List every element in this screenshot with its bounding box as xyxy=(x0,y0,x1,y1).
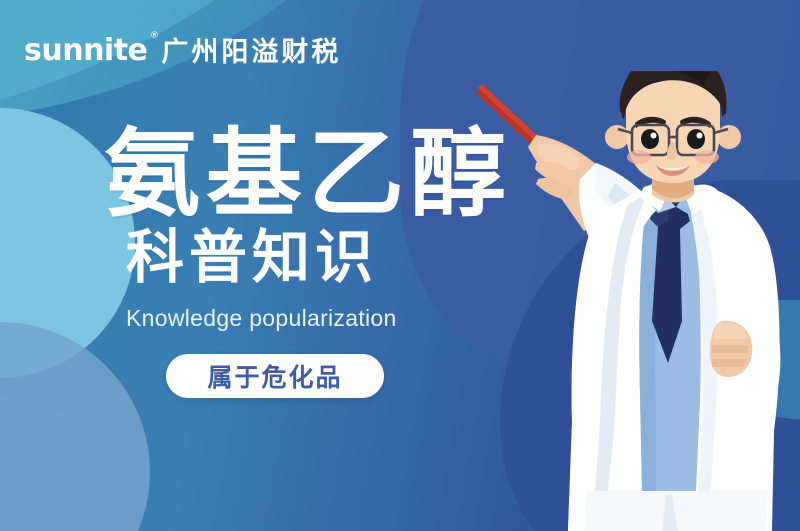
head xyxy=(605,71,741,183)
status-badge: 属于危化品 xyxy=(166,354,384,398)
registered-trademark-icon: ® xyxy=(150,32,159,41)
logo-wordmark-text: sunnite xyxy=(24,33,147,68)
decor-slate-blob-lower xyxy=(0,390,130,531)
eye-left xyxy=(641,129,659,149)
decor-corner-slate xyxy=(0,461,120,531)
headline-block: 氨基乙醇 科普知识 Knowledge popularization 属于危化品 xyxy=(104,128,554,398)
page-title: 氨基乙醇 xyxy=(104,128,554,220)
brand-logo: sunnite ® 广州阳溢财税 xyxy=(24,36,341,66)
ear-right xyxy=(717,125,741,149)
page-subtitle: 科普知识 xyxy=(126,226,554,289)
cheek-left xyxy=(627,150,651,164)
ear-left xyxy=(605,125,629,149)
page-subtitle-english: Knowledge popularization xyxy=(126,305,554,332)
eye-right xyxy=(687,129,705,149)
promo-banner: sunnite ® 广州阳溢财税 氨基乙醇 科普知识 Knowledge pop… xyxy=(0,0,800,531)
logo-wordmark: sunnite ® xyxy=(24,36,147,66)
logo-company-name: 广州阳溢财税 xyxy=(161,39,341,66)
cheek-right xyxy=(695,150,719,164)
